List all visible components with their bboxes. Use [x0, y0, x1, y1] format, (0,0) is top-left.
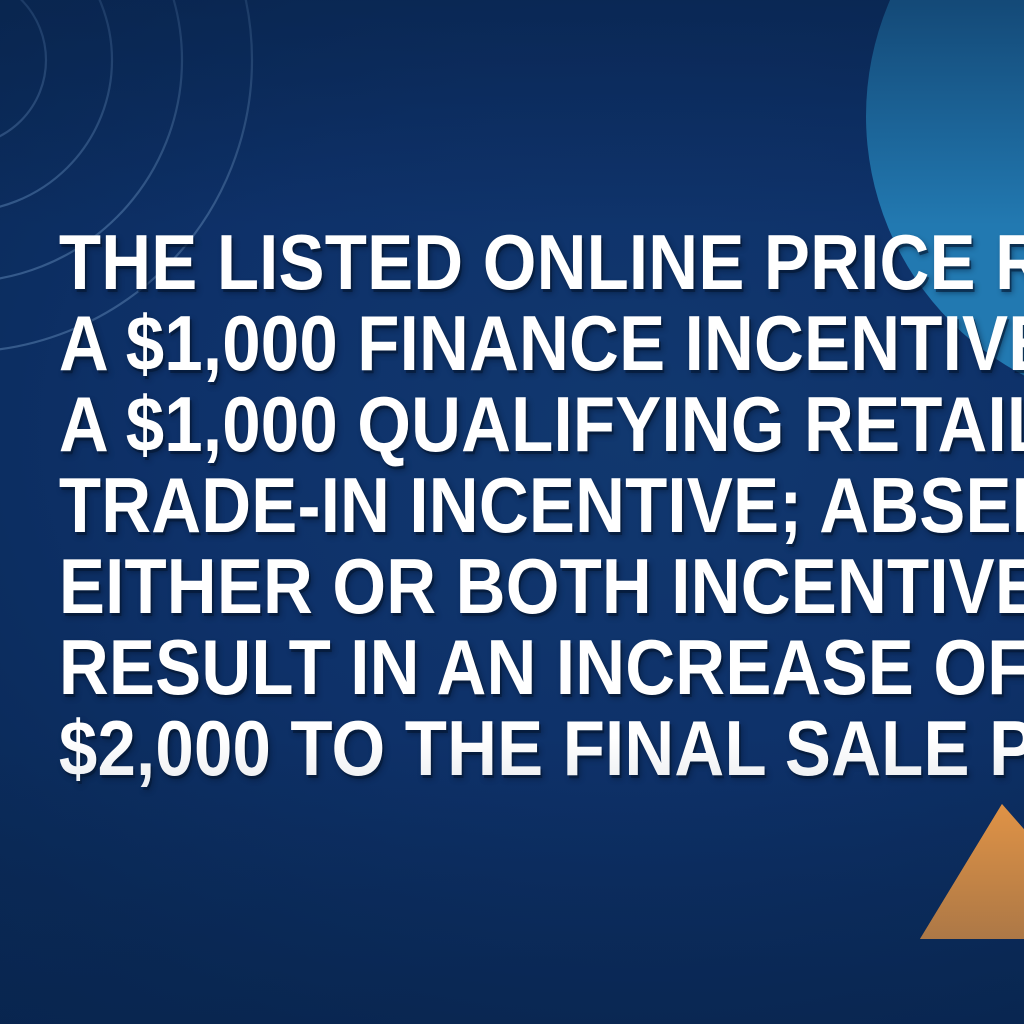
promotional-disclaimer-card: THE LISTED ONLINE PRICE REFLECTS A $1,00… [0, 0, 1024, 1024]
disclaimer-line-2: A $1,000 FINANCE INCENTIVE AND [59, 303, 965, 384]
disclaimer-line-4: TRADE-IN INCENTIVE; ABSENCE OF [59, 465, 965, 546]
disclaimer-line-1: THE LISTED ONLINE PRICE REFLECTS [59, 222, 965, 303]
disclaimer-line-5: EITHER OR BOTH INCENTIVES WILL [59, 546, 965, 627]
disclaimer-line-3: A $1,000 QUALIFYING RETAIL [59, 384, 965, 465]
disclaimer-text-block: THE LISTED ONLINE PRICE REFLECTS A $1,00… [59, 222, 965, 789]
disclaimer-line-6: RESULT IN AN INCREASE OF UP TO [59, 627, 965, 708]
disclaimer-line-7: $2,000 TO THE FINAL SALE PRICE. [59, 708, 965, 789]
